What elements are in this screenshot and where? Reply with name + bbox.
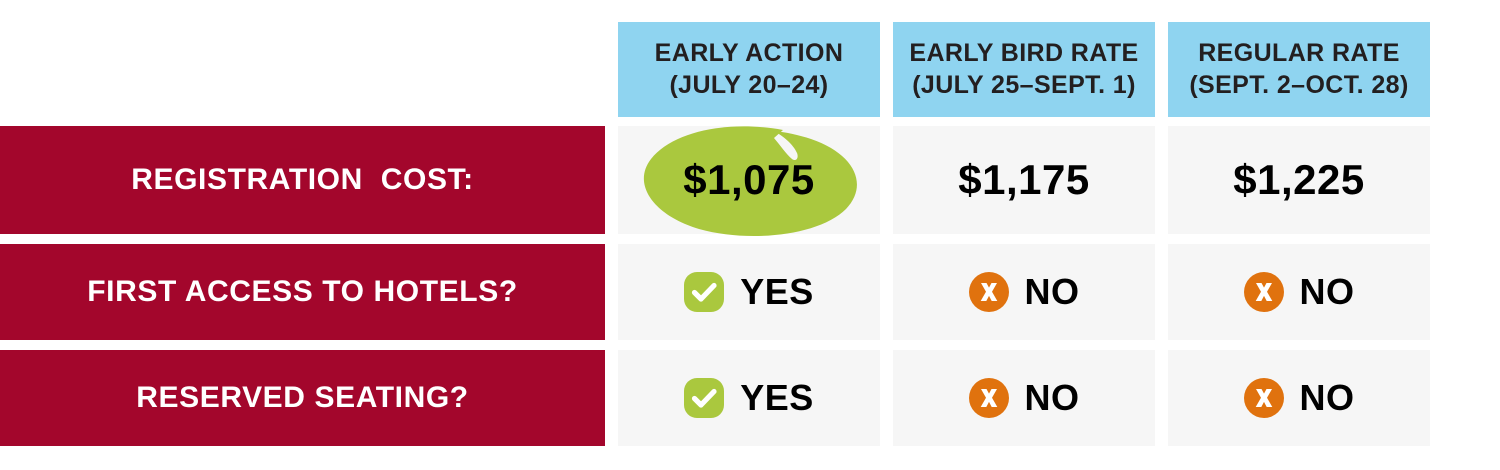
table-row-registration-cost: REGISTRATION COST: $1,075 $1,175 $1,225 — [0, 126, 1500, 234]
row-label-text: REGISTRATION COST: — [131, 163, 474, 197]
status-cell-regular: NO — [1168, 244, 1430, 340]
price-value: $1,225 — [1233, 156, 1364, 204]
table-row-reserved-seating: RESERVED SEATING? YES NO — [0, 350, 1500, 446]
column-header-dates: (SEPT. 2–OCT. 28) — [1189, 70, 1408, 101]
column-header-title: EARLY ACTION — [655, 38, 844, 69]
row-label-text: RESERVED SEATING? — [136, 381, 468, 415]
status-label: YES — [740, 274, 814, 310]
row-label-text: FIRST ACCESS TO HOTELS? — [87, 275, 518, 309]
column-header-regular: REGULAR RATE (SEPT. 2–OCT. 28) — [1168, 22, 1430, 117]
row-label-first-access-to-hotels: FIRST ACCESS TO HOTELS? — [0, 244, 605, 340]
column-header-dates: (JULY 20–24) — [669, 70, 828, 101]
check-circle-icon — [684, 378, 724, 418]
status-label: YES — [740, 380, 814, 416]
table-row-first-access-to-hotels: FIRST ACCESS TO HOTELS? YES NO — [0, 244, 1500, 340]
price-cell-early-action: $1,075 — [618, 126, 880, 234]
price-value: $1,075 — [683, 156, 814, 204]
status-label: NO — [1300, 380, 1355, 416]
table-header-row: EARLY ACTION (JULY 20–24) EARLY BIRD RAT… — [0, 22, 1500, 117]
column-header-title: EARLY BIRD RATE — [909, 38, 1138, 69]
status-cell-early-action: YES — [618, 244, 880, 340]
header-corner-spacer — [0, 22, 605, 117]
status-badge: NO — [1244, 272, 1355, 312]
x-circle-icon — [1244, 378, 1284, 418]
row-label-registration-cost: REGISTRATION COST: — [0, 126, 605, 234]
status-label: NO — [1300, 274, 1355, 310]
column-header-early-bird: EARLY BIRD RATE (JULY 25–SEPT. 1) — [893, 22, 1155, 117]
status-badge: YES — [684, 378, 814, 418]
status-label: NO — [1025, 274, 1080, 310]
row-label-reserved-seating: RESERVED SEATING? — [0, 350, 605, 446]
status-cell-early-action: YES — [618, 350, 880, 446]
status-cell-early-bird: NO — [893, 350, 1155, 446]
status-badge: YES — [684, 272, 814, 312]
price-cell-regular: $1,225 — [1168, 126, 1430, 234]
status-badge: NO — [969, 378, 1080, 418]
x-circle-icon — [1244, 272, 1284, 312]
status-label: NO — [1025, 380, 1080, 416]
status-cell-regular: NO — [1168, 350, 1430, 446]
x-circle-icon — [969, 272, 1009, 312]
column-header-title: REGULAR RATE — [1198, 38, 1400, 69]
price-value: $1,175 — [958, 156, 1089, 204]
check-circle-icon — [684, 272, 724, 312]
pricing-comparison-table: EARLY ACTION (JULY 20–24) EARLY BIRD RAT… — [0, 0, 1500, 470]
status-badge: NO — [969, 272, 1080, 312]
x-circle-icon — [969, 378, 1009, 418]
price-cell-early-bird: $1,175 — [893, 126, 1155, 234]
status-badge: NO — [1244, 378, 1355, 418]
column-header-early-action: EARLY ACTION (JULY 20–24) — [618, 22, 880, 117]
column-header-dates: (JULY 25–SEPT. 1) — [912, 70, 1136, 101]
status-cell-early-bird: NO — [893, 244, 1155, 340]
